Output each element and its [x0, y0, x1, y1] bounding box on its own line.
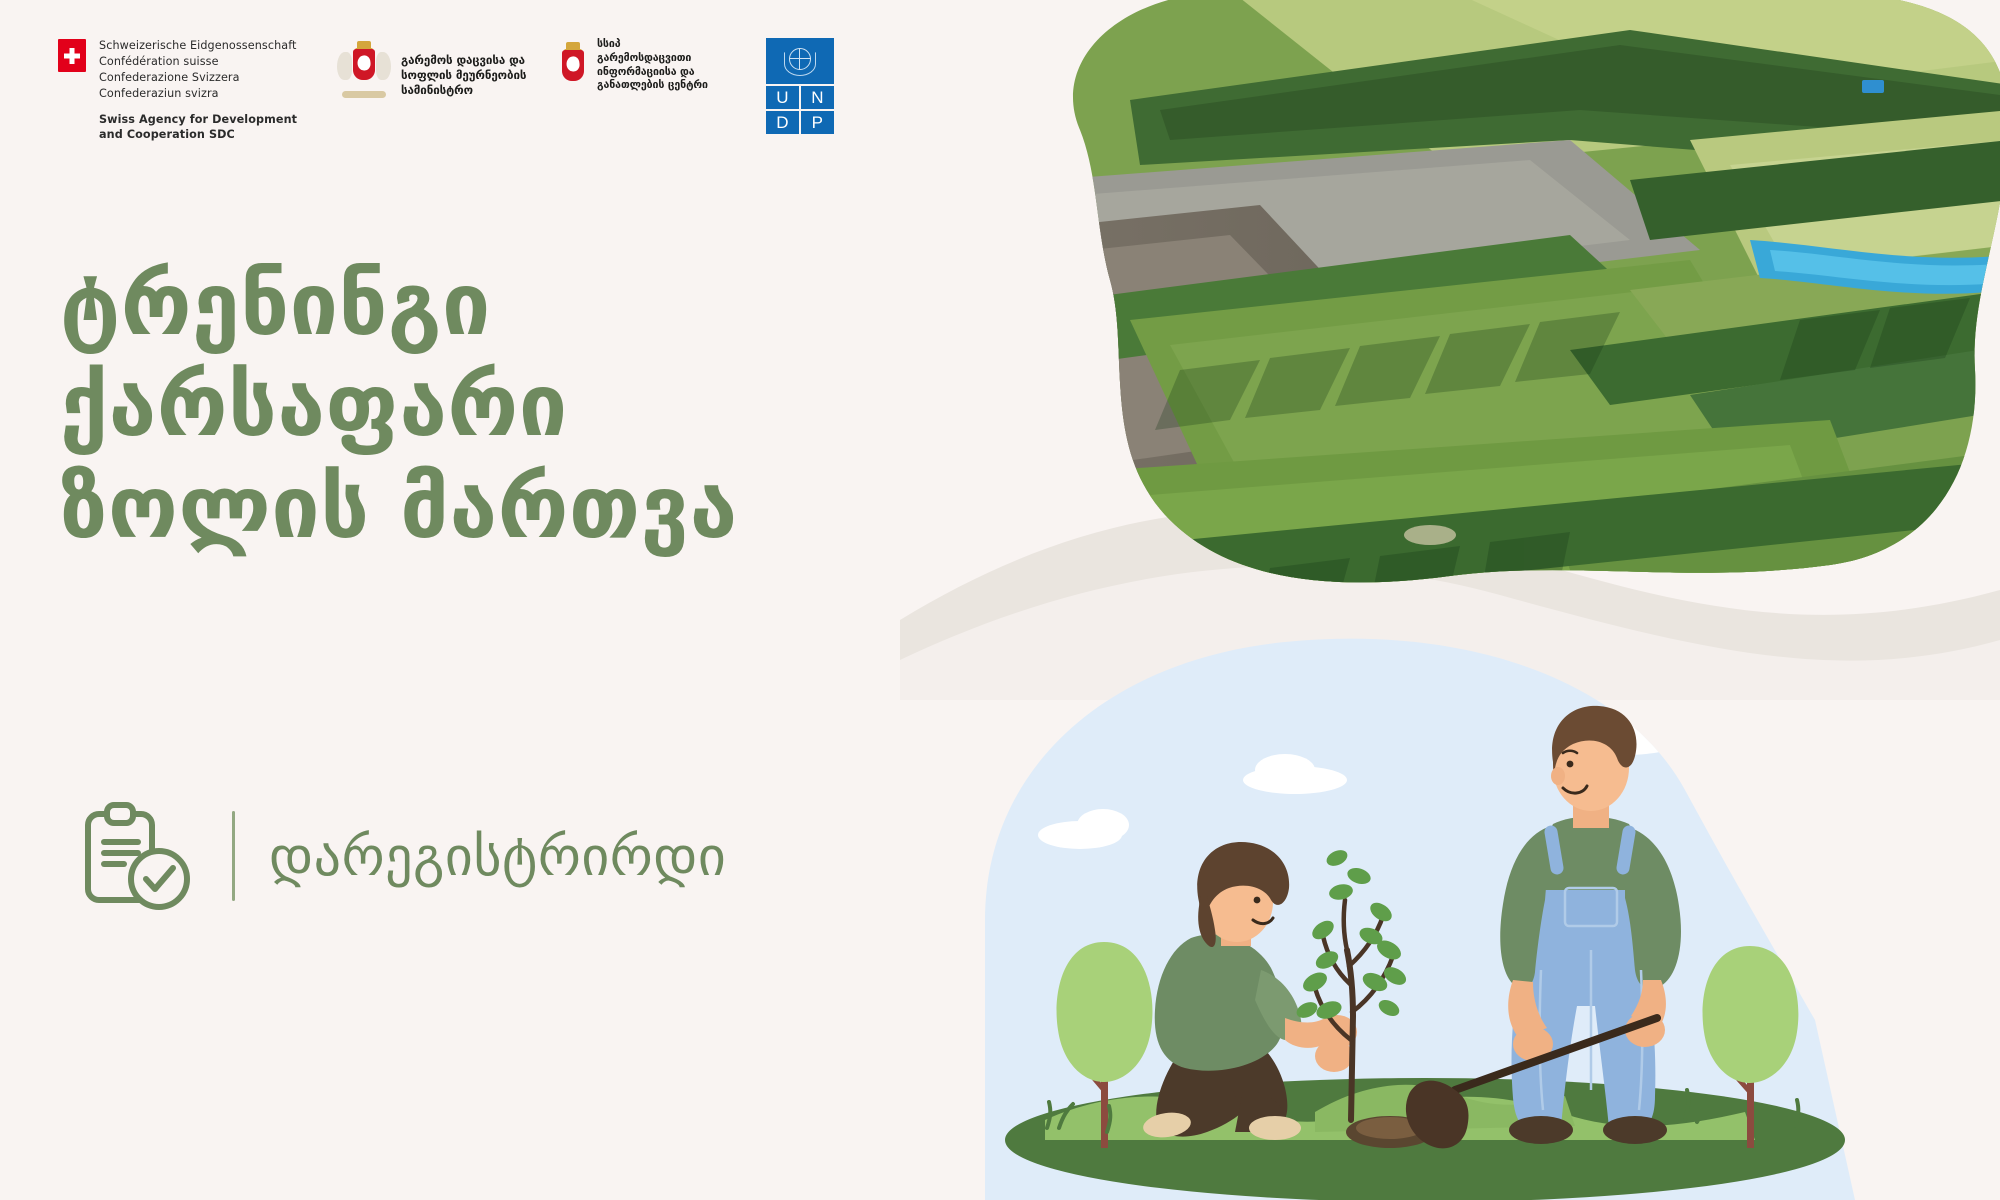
- eiec-logo-caption: სსიპ გარემოსდაცვითი ინფორმაციისა და განა…: [597, 38, 718, 95]
- georgia-coat-of-arms-icon: [336, 38, 392, 100]
- swiss-agency-line2: and Cooperation SDC: [99, 127, 297, 142]
- swiss-line-rm: Confederaziun svizra: [99, 86, 297, 102]
- ministry-of-environment-logo: გარემოს დაცვისა და სოფლის მეურნეობის სამ…: [336, 38, 536, 100]
- undp-letter-p: P: [801, 111, 834, 134]
- register-cta[interactable]: დარეგისტრირდი: [80, 800, 726, 912]
- page-title: ტრენინგი ქარსაფარი ზოლის მართვა: [60, 255, 738, 559]
- headline-line-3: ზოლის მართვა: [60, 458, 738, 559]
- un-emblem-icon: [766, 38, 834, 84]
- swiss-line-fr: Confédération suisse: [99, 54, 297, 70]
- swiss-line-it: Confederazione Svizzera: [99, 70, 297, 86]
- ministry-logo-caption: გარემოს დაცვისა და სოფლის მეურნეობის სამ…: [401, 53, 536, 100]
- clipboard-check-icon: [80, 800, 198, 912]
- headline-line-1: ტრენინგი: [60, 255, 738, 356]
- georgia-coat-of-arms-small-icon: [558, 38, 588, 82]
- tree-planting-illustration: [985, 620, 1885, 1200]
- swiss-agency-line1: Swiss Agency for Development: [99, 112, 297, 127]
- swiss-confederation-logo: Schweizerische Eidgenossenschaft Confédé…: [58, 38, 328, 142]
- swiss-line-de: Schweizerische Eidgenossenschaft: [99, 38, 297, 54]
- undp-letter-n: N: [801, 86, 834, 109]
- undp-letter-u: U: [766, 86, 799, 109]
- training-promo-banner: Schweizerische Eidgenossenschaft Confédé…: [0, 0, 2000, 1200]
- environmental-information-education-centre-logo: სსიპ გარემოსდაცვითი ინფორმაციისა და განა…: [558, 38, 718, 95]
- aerial-farmland-windbreak-photo: [930, 0, 2000, 630]
- undp-logo: U N D P: [766, 38, 836, 134]
- undp-letter-d: D: [766, 111, 799, 134]
- swiss-cross-icon: [58, 39, 86, 72]
- register-label: დარეგისტრირდი: [269, 825, 726, 888]
- cta-divider: [232, 811, 235, 901]
- partner-logo-strip: Schweizerische Eidgenossenschaft Confédé…: [58, 38, 836, 142]
- headline-line-2: ქარსაფარი: [60, 356, 738, 457]
- swiss-logo-text: Schweizerische Eidgenossenschaft Confédé…: [99, 38, 297, 142]
